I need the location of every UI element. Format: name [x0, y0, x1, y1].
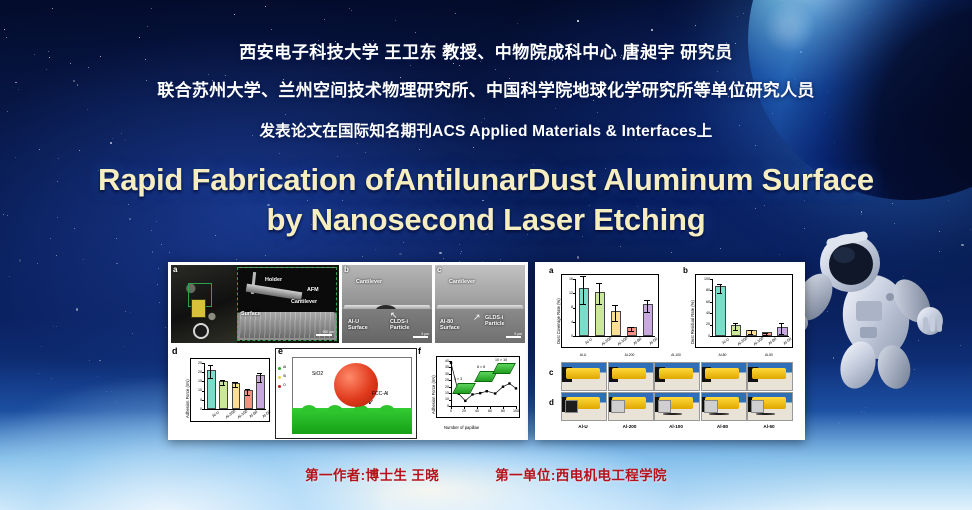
bar — [207, 370, 216, 409]
x-tick-label: Al-U — [584, 336, 593, 345]
y-tick-label: 20 — [192, 370, 202, 374]
photo-top-label: Al-U — [561, 353, 605, 357]
photo-caption: Al-200 — [608, 424, 652, 429]
chart-f-xlabel: Number of papillae — [444, 425, 479, 430]
photo-top-label: Al-80 — [701, 353, 745, 357]
error-cap-bottom — [220, 385, 225, 386]
chart-d-ylabel: Adhesion Force (nN) — [185, 379, 190, 418]
dust-smear — [756, 413, 775, 415]
y-tick-label: 40 — [700, 311, 710, 315]
error-cap-bottom — [779, 334, 784, 335]
x-axis — [712, 336, 789, 337]
title-line-2: by Nanosecond Laser Etching — [0, 200, 972, 240]
error-cap-bottom — [717, 293, 722, 294]
error-cap-bottom — [596, 304, 601, 305]
error-cap-top — [612, 305, 617, 306]
y-tick-label: 4 — [563, 320, 573, 324]
error-cap-top — [717, 284, 722, 285]
header-line-3: 发表论文在国际知名期刊ACS Applied Materials & Inter… — [0, 119, 972, 141]
cantilever-beam — [246, 284, 303, 301]
y-tick-label: 0 — [192, 407, 202, 411]
error-bar — [615, 305, 616, 321]
error-cap-top — [208, 365, 213, 366]
sample-photo — [608, 362, 654, 391]
bar — [244, 390, 253, 409]
scalebar-c-label: 5 µm — [514, 332, 522, 336]
label-cantilever-b: Cantilever — [356, 279, 382, 285]
footer-affiliation: 第一单位:西电机电工程学院 — [495, 468, 667, 483]
x-tick-label: Al-50 — [261, 409, 271, 419]
chart-panel-f: 5101520253035400204060801003 × 38 × 810 … — [436, 356, 520, 418]
label-sio2: SiO2 — [312, 371, 323, 377]
error-bar — [599, 283, 600, 304]
y-tick-label: 0 — [700, 334, 710, 338]
error-cap-bottom — [208, 378, 213, 379]
error-cap-bottom — [580, 304, 585, 305]
error-bar — [210, 365, 211, 378]
label-al80-surface-c: Al-80 Surface — [440, 319, 470, 331]
error-bar — [647, 300, 648, 313]
error-cap-bottom — [748, 334, 753, 335]
panel-label-d: d — [172, 346, 178, 356]
scalebar-a-label: 500 µm — [323, 330, 334, 334]
sample-coupon — [704, 400, 717, 413]
error-cap-top — [580, 276, 585, 277]
chart-right-panel-a: 0481216Al-UAl-200Al-100Al-80Al-50 — [561, 274, 659, 348]
x-tick-label: Al-50 — [782, 336, 792, 346]
y-tick-label: 100 — [700, 277, 710, 281]
y-tick-label: 16 — [563, 277, 573, 281]
dust-smear — [663, 413, 682, 415]
scalebar-a — [316, 334, 332, 336]
error-cap-top — [596, 283, 601, 284]
panel-label-e: e — [278, 346, 283, 356]
error-cap-top — [628, 327, 633, 328]
y-tick-label: 20 — [700, 322, 710, 326]
x-tick-label: Al-50 — [648, 336, 658, 346]
astronaut-body — [790, 231, 943, 390]
footer-author: 第一作者:博士生 王晓 — [305, 468, 439, 483]
chart-right-b-ylabel: Dust Residual Rate (%) — [690, 300, 695, 344]
sample-photo — [608, 392, 654, 421]
cantilever-body-c — [435, 265, 525, 307]
sample-photo — [654, 362, 700, 391]
label-surface: Surface — [241, 311, 261, 317]
x-tick-label: Al-80 — [632, 336, 642, 346]
error-bar — [720, 284, 721, 293]
x-tick-label: Al-80 — [767, 336, 777, 346]
error-cap-top — [644, 300, 649, 301]
panel-b-sem: ↖ 5 µm Cantilever Al-U Surface CLDS-i Pa… — [342, 265, 432, 343]
y-axis — [712, 279, 713, 336]
sample-photo — [561, 392, 607, 421]
label-fcc-al: FCC-Al — [372, 391, 388, 397]
label-cldsi-particle-b: CLDS-i Particle — [390, 319, 424, 331]
photo-caption: Al-U — [561, 424, 605, 429]
error-cap-bottom — [733, 330, 738, 331]
y-axis — [575, 279, 576, 336]
sample-photo — [701, 392, 747, 421]
error-cap-top — [748, 330, 753, 331]
footer-block: 第一作者:博士生 王晓第一单位:西电机电工程学院 — [0, 464, 972, 484]
panel-e-md-simulation: SiO2 FCC-Al ↙ Al Si O — [275, 348, 417, 439]
inset-annotation: 10 × 10 — [495, 358, 507, 362]
panel-label-right-d: d — [549, 398, 554, 407]
pointer-arrow-e: ↙ — [368, 398, 374, 406]
header-line-1: 西安电子科技大学 王卫东 教授、中物院成科中心 唐昶宇 研究员 — [0, 38, 972, 63]
page-title: Rapid Fabrication ofAntilunarDust Alumin… — [0, 160, 972, 239]
papilla-2 — [328, 405, 342, 414]
panel-label-b: b — [344, 265, 349, 274]
error-cap-bottom — [232, 387, 237, 388]
scalebar-b — [413, 336, 428, 338]
label-cantilever-a: Cantilever — [291, 299, 317, 305]
error-bar — [260, 373, 261, 383]
photo-caption: Al-50 — [747, 424, 791, 429]
dust-smear — [709, 413, 728, 415]
y-tick-label: 80 — [700, 288, 710, 292]
inset-annotation: 3 × 3 — [454, 377, 462, 381]
instrument-knob — [193, 323, 209, 339]
error-bar — [735, 323, 736, 330]
sample-photo — [747, 392, 793, 421]
error-cap-bottom — [612, 321, 617, 322]
error-cap-top — [245, 389, 250, 390]
sample-photo — [561, 362, 607, 391]
y-tick-label: 15 — [192, 379, 202, 383]
pointer-arrow-c: ↗ — [473, 313, 481, 322]
scalebar-b-label: 5 µm — [421, 332, 429, 336]
error-cap-top — [779, 323, 784, 324]
error-bar — [583, 276, 584, 305]
sample-photo — [654, 392, 700, 421]
sample-coupon — [611, 400, 624, 413]
header-line-2: 联合苏州大学、兰州空间技术物理研究所、中国科学院地球化学研究所等单位研究人员 — [0, 76, 972, 101]
figure-left: 500 µm Holder AFM Cantilever Surface a ↖… — [168, 262, 528, 440]
panel-label-right-a: a — [549, 266, 553, 275]
chart-f-ylabel: Adhesion Force (nN) — [431, 375, 436, 414]
x-axis — [575, 336, 655, 337]
afm-cantilever-sem-inset: 500 µm — [237, 267, 337, 341]
chart-panel-d: 0510152025Al-UAl-200Al-100Al-80Al-50 — [190, 358, 270, 422]
legend-label-al: Al — [278, 365, 286, 369]
robotic-arm — [566, 368, 600, 379]
y-tick-label: 5 — [192, 398, 202, 402]
error-cap-top — [733, 323, 738, 324]
error-cap-bottom — [644, 312, 649, 313]
panel-label-right-c: c — [549, 368, 553, 377]
panel-c-sem: ↗ 5 µm Cantilever Al-80 Surface GLDS-i P… — [435, 265, 525, 343]
error-cap-bottom — [628, 331, 633, 332]
poster-root: 西安电子科技大学 王卫东 教授、中物院成科中心 唐昶宇 研究员 联合苏州大学、兰… — [0, 0, 972, 510]
error-cap-top — [232, 382, 237, 383]
panel-label-a: a — [173, 265, 177, 274]
photo-caption: Al-100 — [654, 424, 698, 429]
sample-photo — [701, 362, 747, 391]
y-tick-label: 0 — [563, 334, 573, 338]
y-tick-label: 10 — [192, 388, 202, 392]
error-cap-bottom — [763, 335, 768, 336]
error-cap-top — [257, 373, 262, 374]
y-tick-label: 25 — [192, 361, 202, 365]
papilla-1 — [302, 405, 316, 414]
label-holder: Holder — [265, 277, 282, 283]
figure-right: 0481216Al-UAl-200Al-100Al-80Al-50 a Dust… — [535, 262, 805, 440]
photo-top-label: Al-200 — [608, 353, 652, 357]
panel-label-c: c — [437, 265, 441, 274]
chart-right-a-ylabel: Dust Coverage Rate (%) — [556, 298, 561, 344]
legend-label-si: Si — [278, 374, 286, 378]
x-tick-label: Al-U — [211, 409, 220, 418]
sample-photo — [747, 362, 793, 391]
error-cap-bottom — [257, 382, 262, 383]
error-cap-bottom — [245, 395, 250, 396]
robotic-arm — [752, 368, 786, 379]
sample-coupon — [751, 400, 764, 413]
y-tick-label: 60 — [700, 300, 710, 304]
robotic-arm — [612, 368, 646, 379]
robotic-arm — [705, 368, 739, 379]
panel-a-afm-setup: 500 µm Holder AFM Cantilever Surface — [171, 265, 339, 343]
sample-holder-yellow — [191, 299, 206, 318]
y-tick-label: 12 — [563, 291, 573, 295]
chart-right-panel-b: 020406080100Al-UAl-200Al-100Al-80Al-50 — [695, 274, 793, 348]
title-line-1: Rapid Fabrication ofAntilunarDust Alumin… — [0, 160, 972, 200]
inset-annotation: 8 × 8 — [477, 365, 485, 369]
sample-coupon — [658, 400, 671, 413]
error-cap-top — [220, 380, 225, 381]
robotic-arm — [659, 368, 693, 379]
scalebar-c — [506, 336, 521, 338]
x-tick-label: Al-80 — [248, 409, 258, 419]
error-bar — [781, 323, 782, 333]
photo-top-label: Al-100 — [654, 353, 698, 357]
papilla-4 — [380, 405, 394, 414]
label-afm: AFM — [307, 287, 319, 293]
label-cantilever-c: Cantilever — [449, 279, 475, 285]
x-tick-label: Al-U — [721, 336, 730, 345]
legend-label-o: O — [278, 383, 286, 387]
cantilever-body-b — [342, 265, 432, 307]
panel-label-f: f — [418, 346, 421, 356]
y-axis — [204, 363, 205, 409]
photo-caption: Al-80 — [701, 424, 745, 429]
panel-label-right-b: b — [683, 266, 688, 275]
label-gldsi-particle-c: GLDS-i Particle — [485, 315, 519, 327]
sample-coupon — [565, 400, 578, 413]
y-tick-label: 8 — [563, 305, 573, 309]
label-alu-surface-b: Al-U Surface — [348, 319, 378, 331]
photo-top-label: Al-50 — [747, 353, 791, 357]
header-block: 西安电子科技大学 王卫东 教授、中物院成科中心 唐昶宇 研究员 联合苏州大学、兰… — [0, 38, 972, 141]
